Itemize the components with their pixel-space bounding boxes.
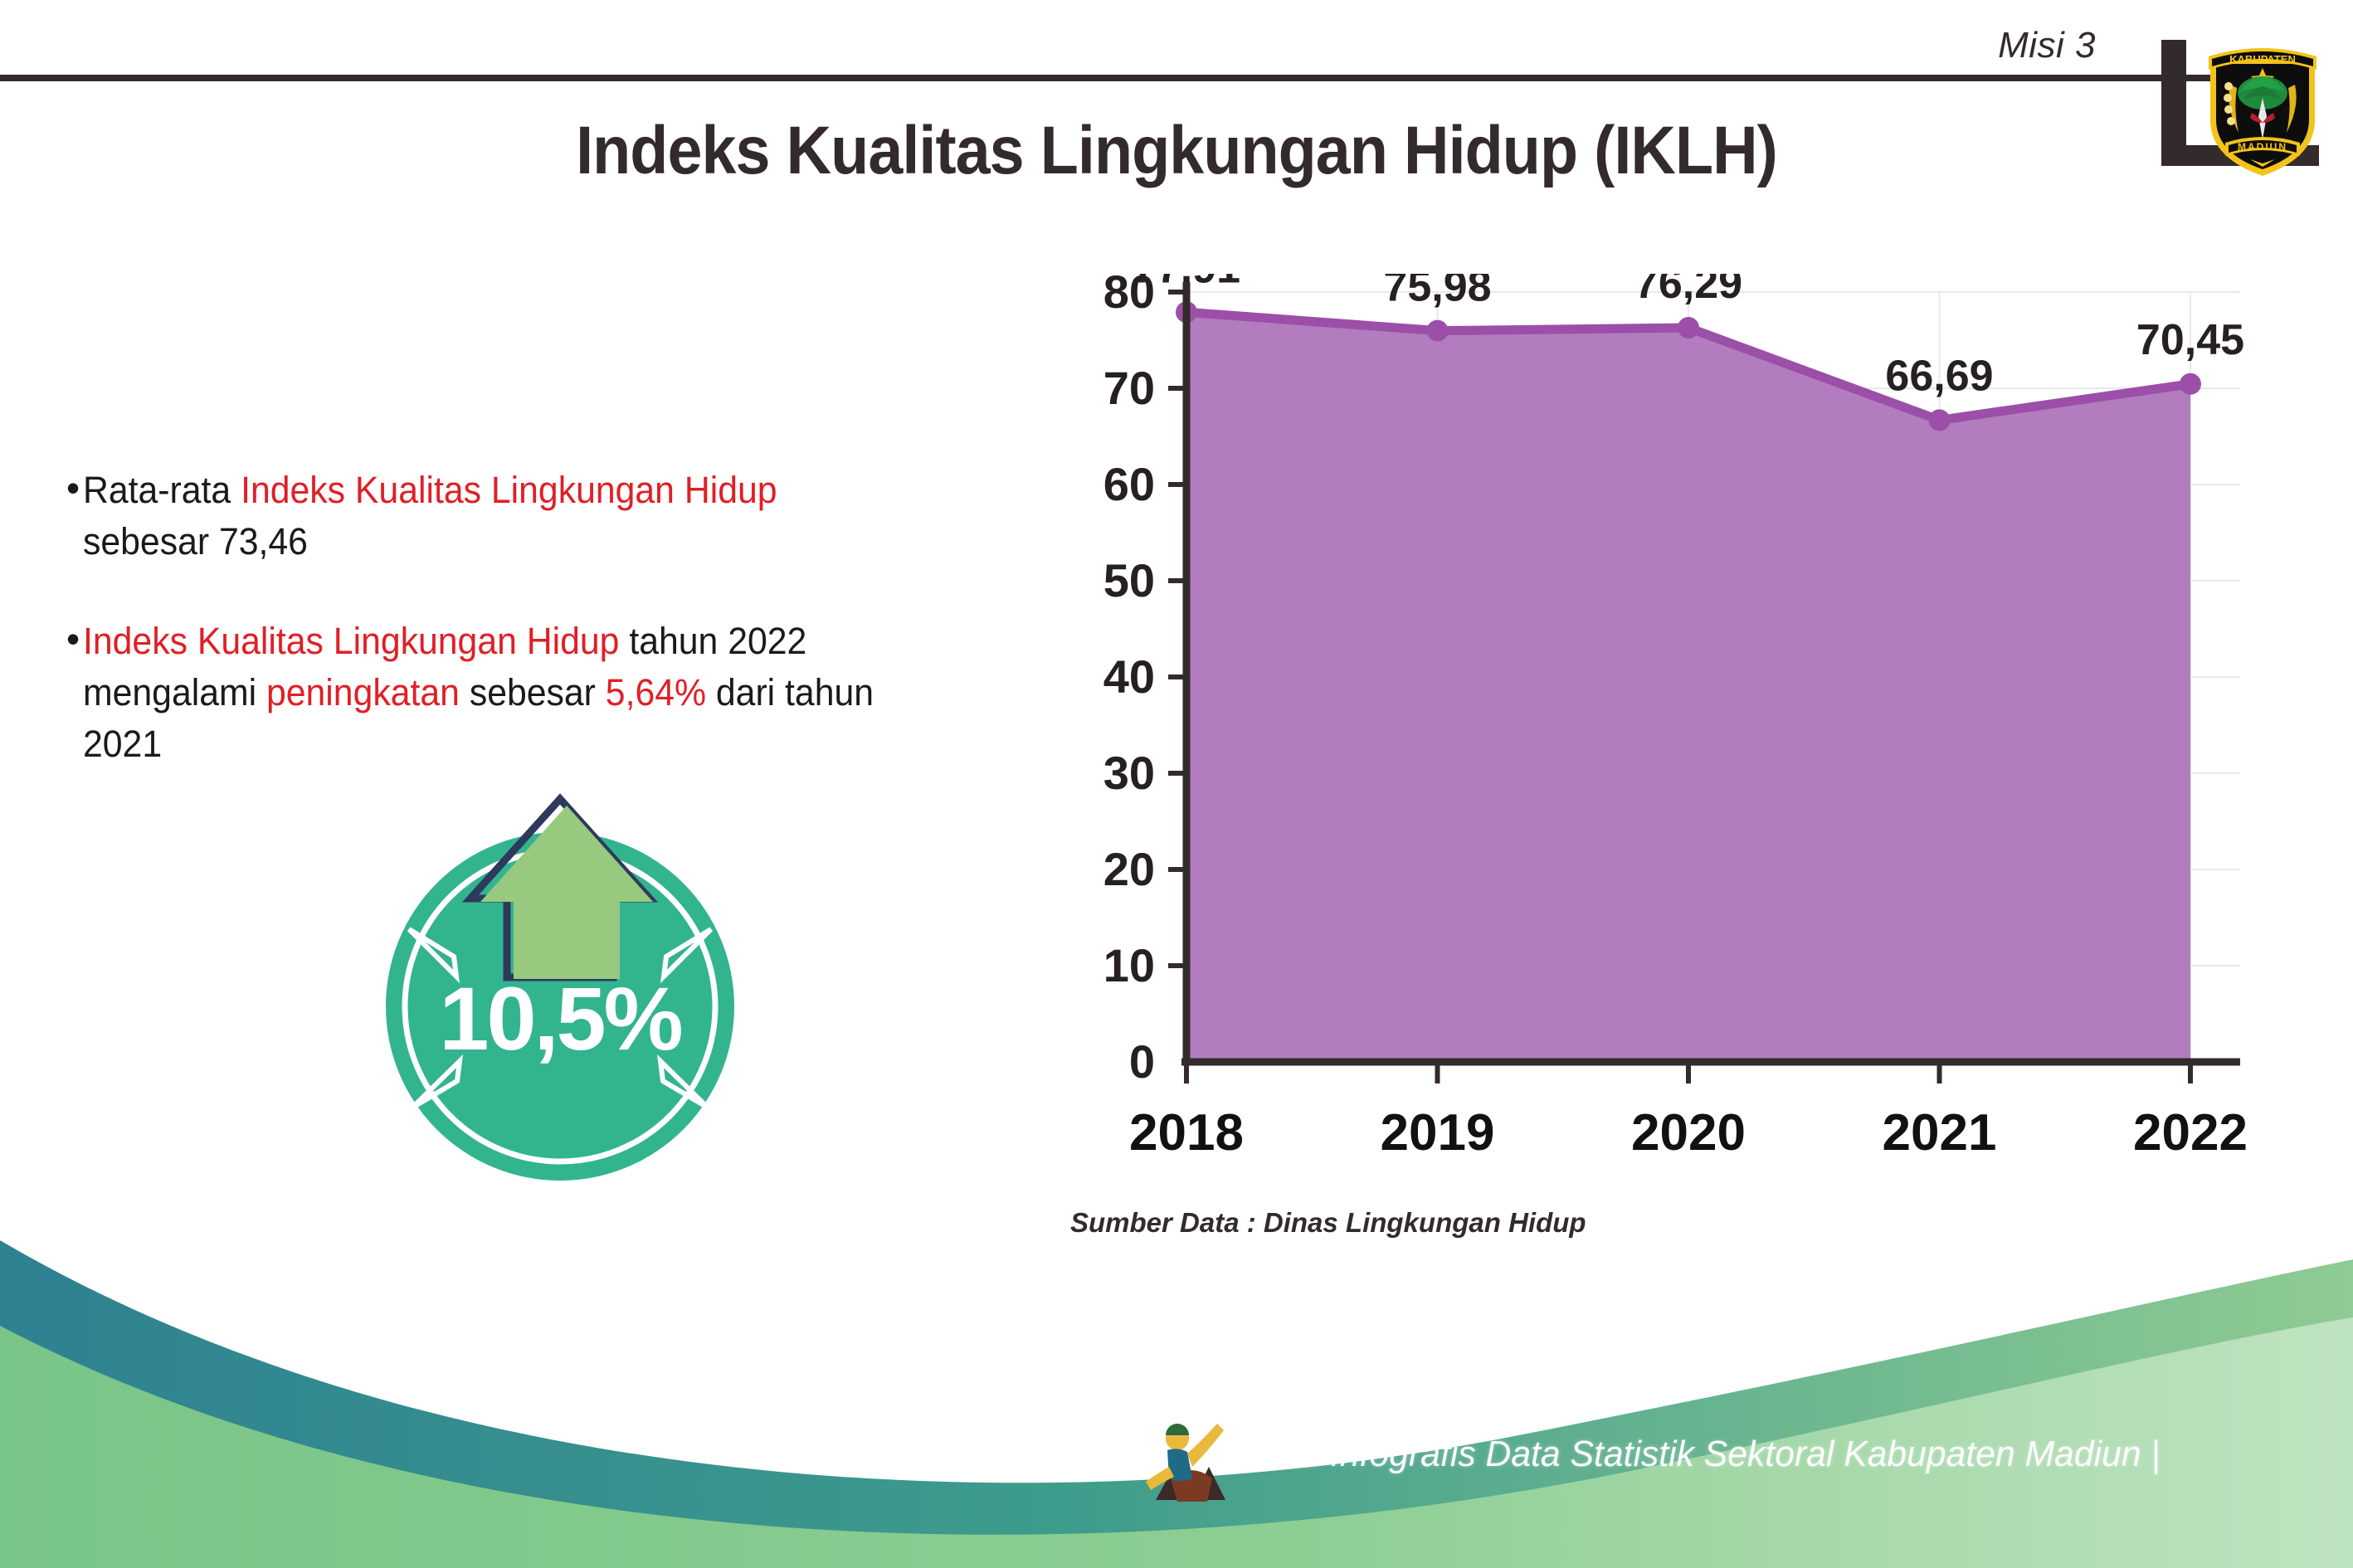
chart-value-label: 75,98 [1383,274,1491,311]
increase-badge: 10,5% [319,734,792,1249]
chart-y-tick-label: 60 [1103,458,1155,510]
chart-x-tick-label: 2018 [1129,1104,1244,1161]
chart-y-tick-label: 30 [1103,747,1155,799]
chart-y-tick-label: 0 [1129,1035,1155,1088]
chart-data-point [2180,373,2201,395]
page-title: Indeks Kualitas Lingkungan Hidup (IKLH) [94,112,2258,190]
chart-y-tick-label: 50 [1103,554,1155,606]
misi-label: Misi 3 [1998,25,2096,66]
chart-value-label: 70,45 [2136,316,2244,364]
chart-data-point [1678,317,1699,338]
bullet-2-seg-3: sebesar [460,671,606,713]
chart-value-label: 66,69 [1885,352,1993,400]
footer-caption: Media Infografis Data Statistik Sektoral… [1224,1434,2161,1475]
chart-y-tick-label: 10 [1103,939,1155,991]
bullet-2-seg-2: peningkatan [266,671,460,713]
bullet-1-seg-2: sebesar 73,46 [83,520,308,562]
iklh-area-chart: 77,9175,9876,2966,6970,45010203040506070… [979,274,2273,1203]
bullet-marker: • [66,616,80,662]
header-divider-rule [0,75,2290,81]
bullet-marker: • [66,465,80,511]
chart-area-fill [1186,312,2190,1062]
bullet-2-seg-0: Indeks Kualitas Lingkungan Hidup [83,620,619,662]
infographic-slide: Misi 3 KABUPATEN MADIUN Indeks Kualitas … [0,0,2353,1568]
list-item: • Rata-rata Indeks Kualitas Lingkungan H… [66,465,946,567]
bullet-2-seg-4: 5,64% [606,671,706,713]
chart-x-tick-label: 2021 [1883,1104,1997,1161]
svg-text:KABUPATEN: KABUPATEN [2229,53,2296,66]
chart-x-tick-label: 2019 [1381,1104,1495,1161]
bullet-1-seg-1: Indeks Kualitas Lingkungan Hidup [241,469,777,511]
chart-x-tick-label: 2022 [2133,1104,2248,1161]
chart-y-tick-label: 40 [1103,650,1155,703]
chart-data-point [1929,409,1951,431]
bullet-1-seg-0: Rata-rata [83,469,241,511]
chart-y-tick-label: 80 [1103,274,1155,318]
chart-y-tick-label: 70 [1103,362,1155,414]
chart-x-tick-label: 2020 [1631,1104,1746,1161]
chart-data-point [1427,320,1449,342]
chart-value-label: 76,29 [1634,274,1742,308]
bullet-text-1: Rata-rata Indeks Kualitas Lingkungan Hid… [83,465,903,567]
chart-y-tick-label: 20 [1103,843,1155,895]
badge-value-text: 10,5% [386,967,734,1070]
